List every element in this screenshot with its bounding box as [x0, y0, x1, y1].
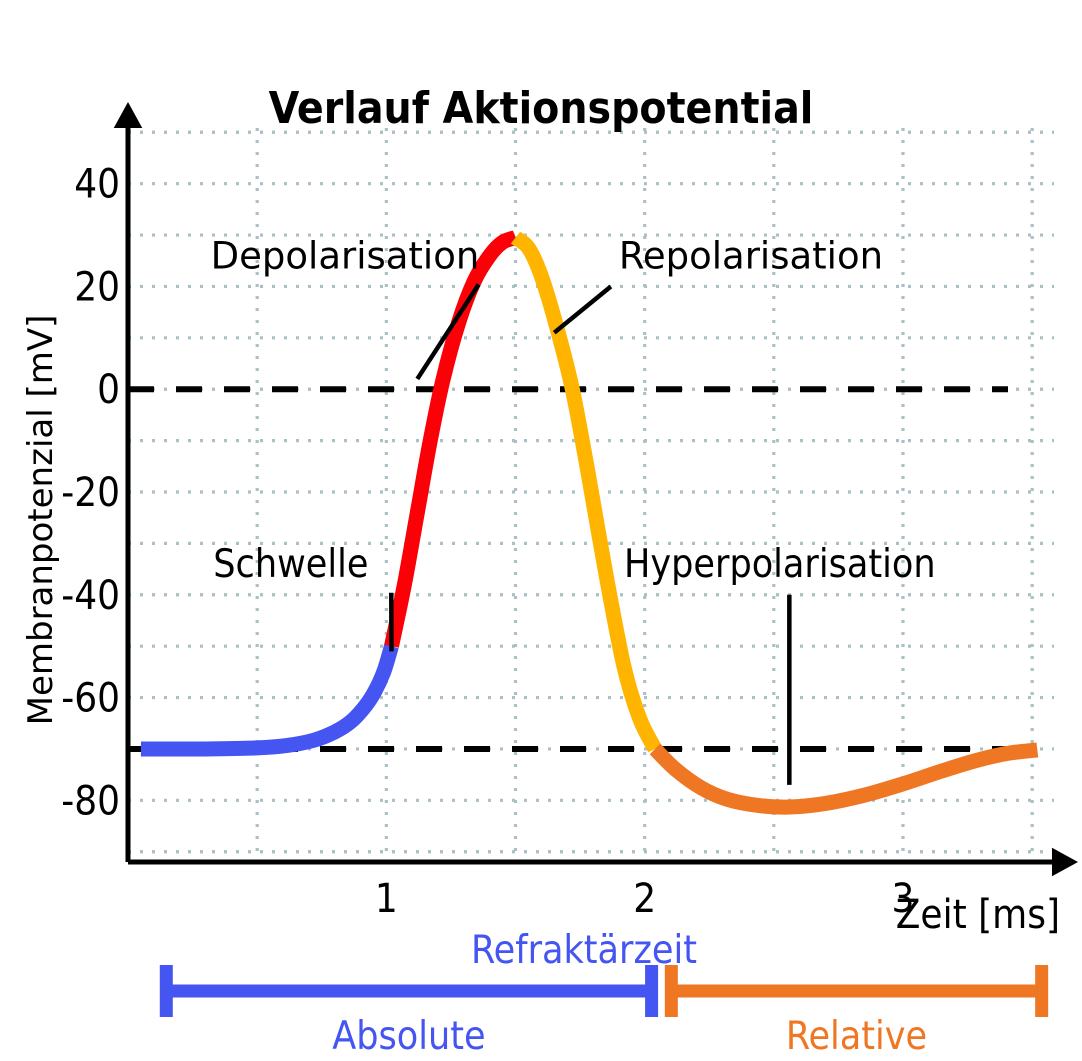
y-tick-label: -40 [61, 573, 120, 619]
y-tick-label: 0 [97, 367, 120, 413]
refractory-label-relative: Relative [786, 1014, 927, 1059]
y-tick-label: -60 [61, 676, 120, 722]
chart-title: Verlauf Aktionspotential [269, 83, 814, 134]
action-potential-figure: 40200-20-40-60-80 123 DepolarisationRepo… [0, 0, 1082, 1061]
y-tick-label: 20 [74, 264, 120, 310]
x-tick-label: 2 [633, 876, 656, 922]
x-tick-label: 1 [375, 876, 398, 922]
annotation-label-depolarisation: Depolarisation [211, 234, 480, 277]
y-axis-title: Membranpotenzial [mV] [21, 315, 61, 726]
annotation-label-schwelle: Schwelle [213, 542, 368, 587]
y-tick-label: -20 [61, 470, 120, 516]
action-potential-chart: 40200-20-40-60-80 123 DepolarisationRepo… [0, 0, 1082, 1061]
y-tick-label: -80 [61, 778, 120, 824]
x-axis-title: Zeit [ms] [896, 892, 1060, 938]
y-tick-label: 40 [74, 162, 120, 208]
annotation-label-hyperpolarisation: Hyperpolarisation [624, 542, 936, 587]
refractory-label-absolute: Absolute [332, 1014, 485, 1059]
refractory-title: Refraktärzeit [471, 928, 697, 973]
annotation-label-repolarisation: Repolarisation [619, 234, 883, 277]
